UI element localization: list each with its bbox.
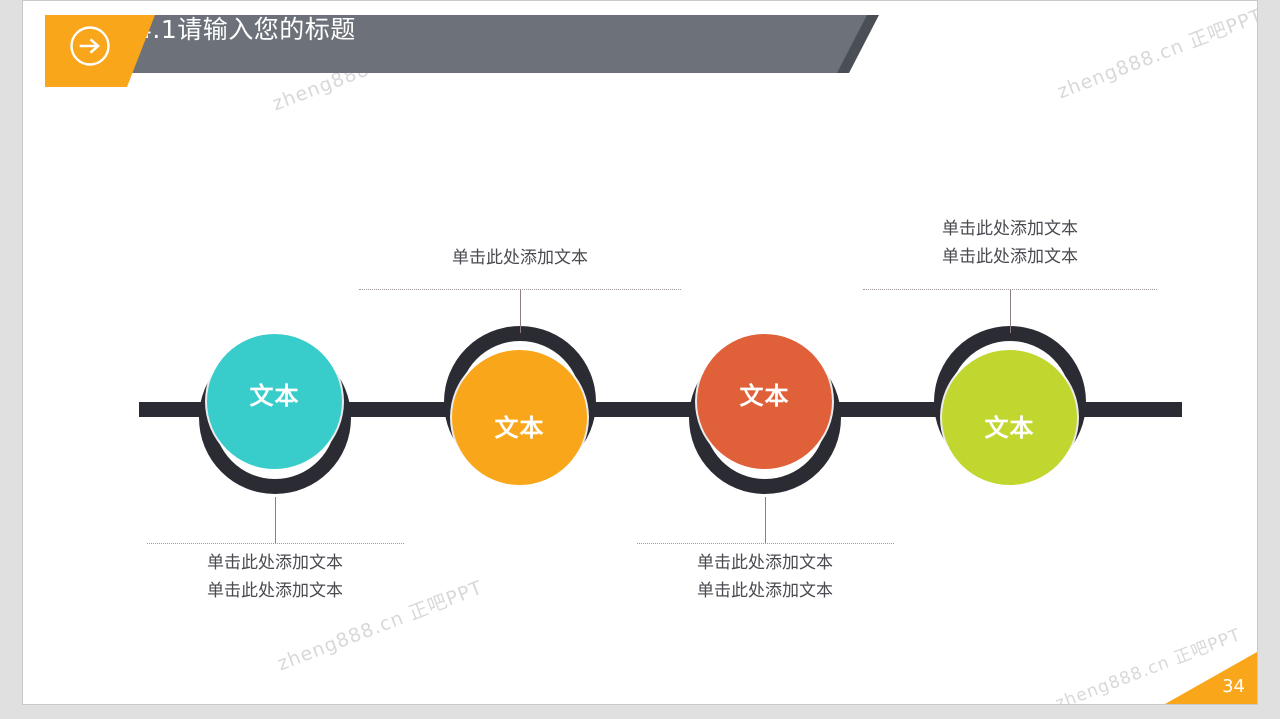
callout-4-stem [1010,289,1011,333]
node-disc-3: 文本 [697,334,832,469]
callout-1-stem [275,497,276,543]
callout-4-line-1: 单击此处添加文本 [860,216,1160,244]
watermark-top-right: zheng888.cn 正吧PPT [1053,1,1258,104]
callout-3-line-2: 单击此处添加文本 [615,578,915,606]
node-label-2: 文本 [495,408,545,443]
callout-2-stem [520,289,521,333]
callout-3-dots [637,543,894,544]
slide-canvas: zheng888.cn 正吧PPT zheng888.cn 正吧PPT zhen… [22,0,1258,705]
callout-2-dots [359,289,681,290]
callout-1-line-2: 单击此处添加文本 [125,578,425,606]
page-title: 4.1请输入您的标题 [136,1,356,59]
node-disc-4: 文本 [942,350,1077,485]
page-number-badge: 34 [1165,652,1257,704]
node-label-1: 文本 [250,376,300,411]
arrow-right-circle-icon [69,25,111,67]
callout-3-stem [765,497,766,543]
callout-2-line-1: 单击此处添加文本 [370,245,670,273]
node-label-4: 文本 [985,408,1035,443]
callout-1-text: 单击此处添加文本 单击此处添加文本 [125,550,425,605]
callout-4-dots [863,289,1157,290]
callout-3-line-1: 单击此处添加文本 [615,550,915,578]
callout-2-text: 单击此处添加文本 [370,245,670,273]
callout-4-text: 单击此处添加文本 单击此处添加文本 [860,216,1160,271]
page-number: 34 [1222,676,1245,697]
node-label-3: 文本 [740,376,790,411]
node-disc-1: 文本 [207,334,342,469]
screenshot-root: zheng888.cn 正吧PPT zheng888.cn 正吧PPT zhen… [0,0,1280,719]
callout-1-dots [147,543,404,544]
callout-4-line-2: 单击此处添加文本 [860,244,1160,272]
node-disc-2: 文本 [452,350,587,485]
callout-1-line-1: 单击此处添加文本 [125,550,425,578]
callout-3-text: 单击此处添加文本 单击此处添加文本 [615,550,915,605]
